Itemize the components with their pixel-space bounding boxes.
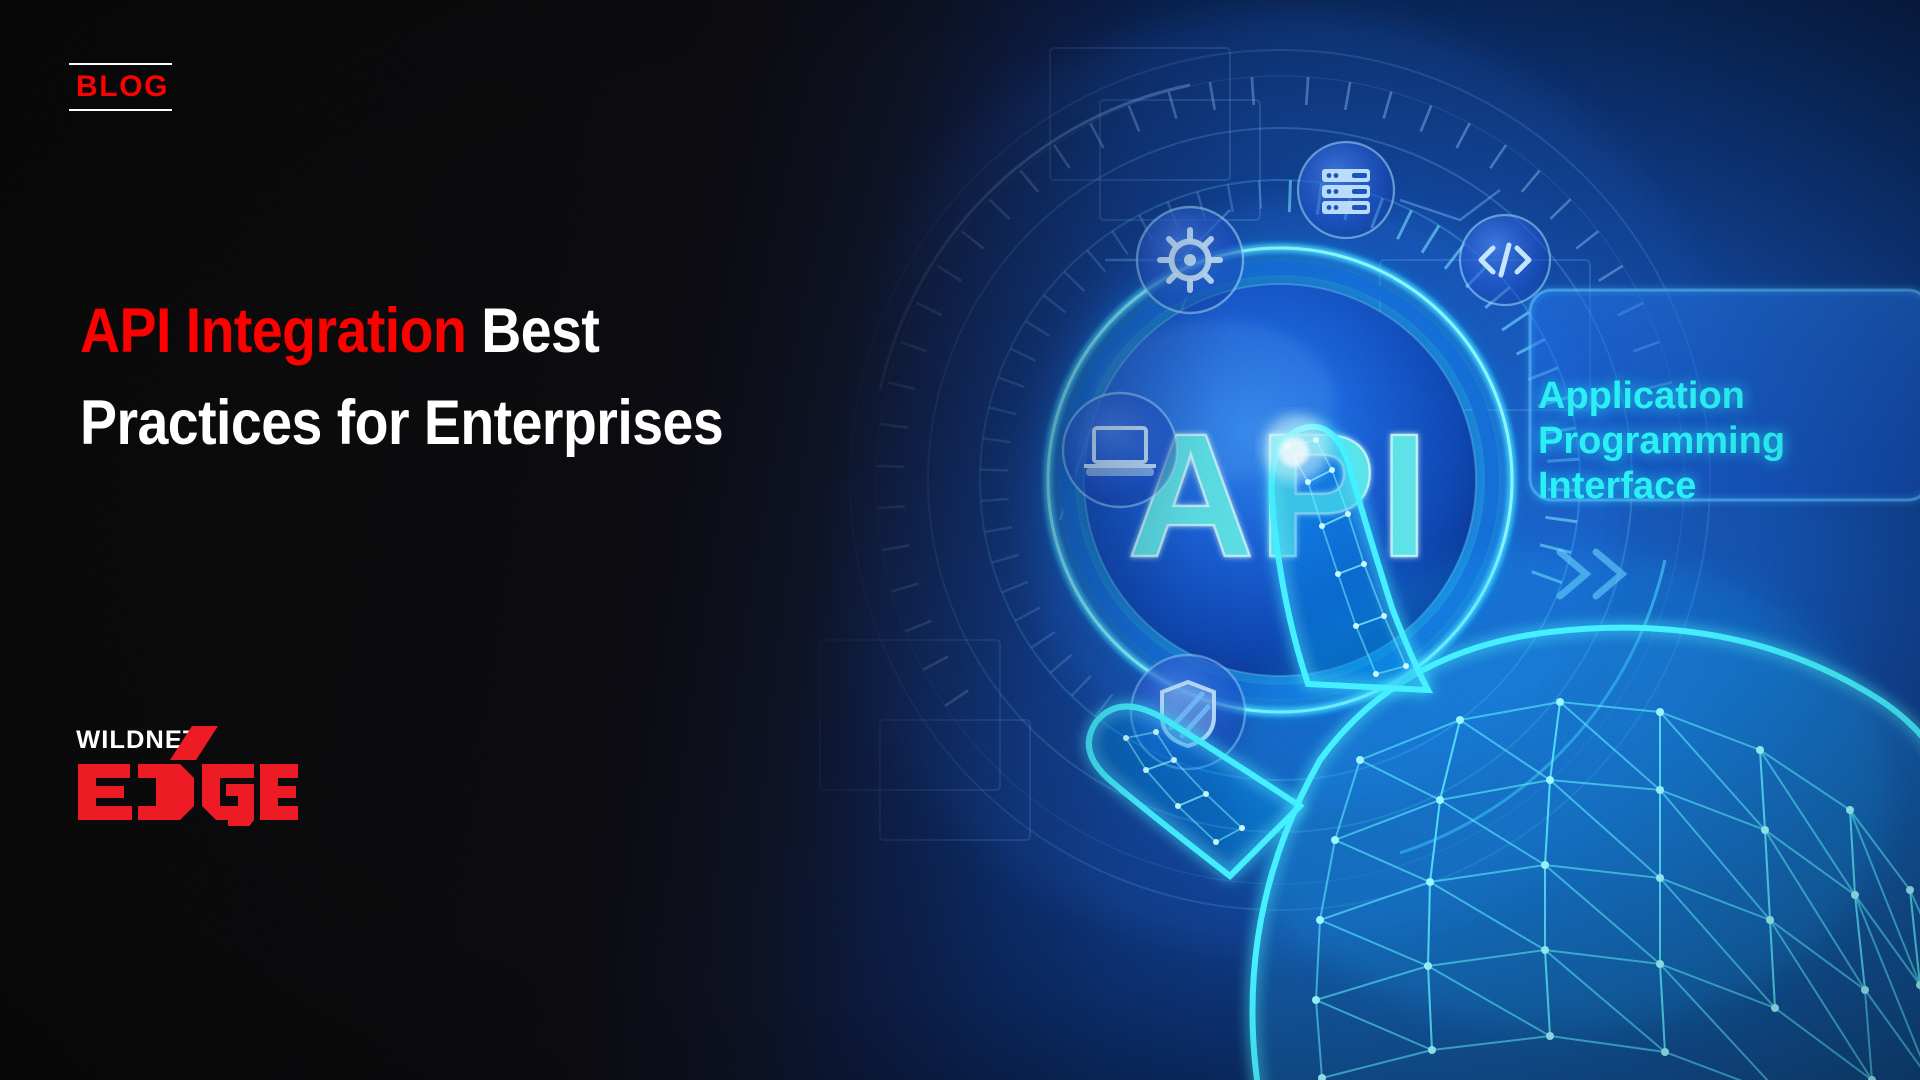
page-title: API Integration Best Practices for Enter… <box>80 286 940 470</box>
wildnet-edge-logo[interactable]: WILDNET <box>68 716 298 826</box>
blog-badge-label: BLOG <box>69 65 172 109</box>
logo-bottom-word <box>78 764 298 826</box>
vignette <box>0 0 1920 1080</box>
headline-rest: Best <box>466 296 599 366</box>
blog-banner: API <box>0 0 1920 1080</box>
headline-line-1: API Integration Best <box>80 286 837 378</box>
blog-badge: BLOG <box>69 63 172 111</box>
headline-line-2: Practices for Enterprises <box>80 378 837 470</box>
blog-badge-rule-bottom <box>69 109 172 111</box>
headline-accent: API Integration <box>80 296 466 366</box>
